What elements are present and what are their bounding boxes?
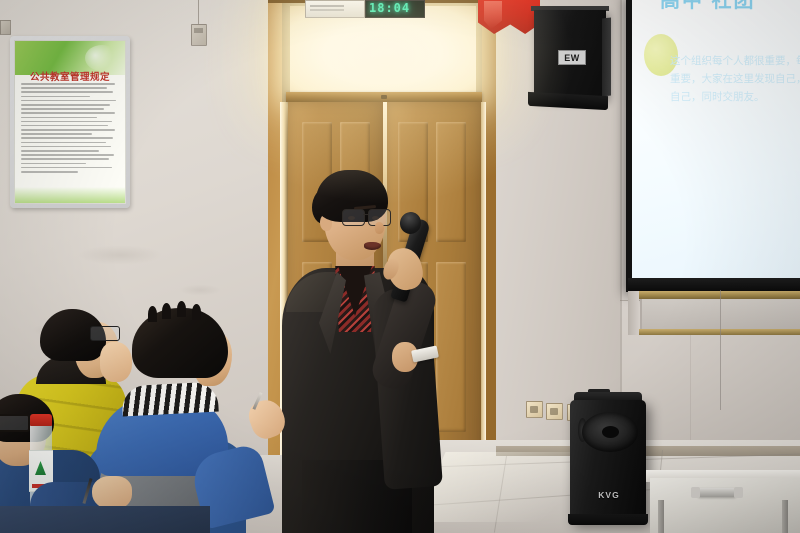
hair-spike [177, 301, 186, 317]
screen-roller-bottom-rail [638, 329, 800, 335]
desk-right-leg [782, 500, 788, 533]
screen-pull-cord[interactable] [720, 290, 721, 410]
student-blue-hoodie-striped-collar [121, 382, 218, 417]
classroom-regulations-poster: 公共教室管理规定 [10, 36, 130, 208]
slide-body-text: 这个组织每个人都很重要，每 重要，大家在这里发现自己， 自己，同时交朋友。 [670, 52, 800, 106]
slide-body-line: 重要，大家在这里发现自己， [670, 70, 800, 88]
floor-speaker-brand-badge: KVG [595, 490, 623, 500]
student-yellow-jacket-glasses [90, 326, 120, 341]
projection-screen-bottom-bar [628, 278, 800, 291]
presenter-nose [375, 222, 384, 234]
student-yellow-jacket-hand-on-cheek [100, 342, 132, 382]
wall-outlet[interactable] [546, 403, 563, 420]
poster-body-text [21, 83, 119, 187]
student-front-left-glasses [0, 414, 30, 432]
desk-right [650, 478, 800, 533]
poster-inner: 公共教室管理规定 [14, 40, 126, 204]
classroom-photo-scene: 公共教室管理规定 [0, 0, 800, 533]
poster-footer-graphic [15, 187, 125, 203]
wall-speaker-side-panel [602, 17, 611, 96]
wall-outlet[interactable] [526, 401, 543, 418]
water-bottle-cap [30, 414, 52, 426]
student-blue-hoodie-hand [245, 395, 290, 442]
front-left-desk-edge [0, 506, 210, 533]
wall-thermostat-box [191, 24, 207, 46]
wall-junction-box-small [0, 20, 11, 35]
hair-spike [192, 304, 201, 320]
door-transom-rail [286, 92, 482, 102]
screen-roller-mount [628, 291, 639, 335]
led-clock-display: 18:04 [365, 0, 425, 18]
seated-students [0, 300, 300, 533]
desk-right-drawer-handle[interactable] [698, 488, 736, 497]
led-clock-digits: 18:04 [369, 2, 410, 15]
projection-screen-surface: 高中 社团 这个组织每个人都很重要，每 重要，大家在这里发现自己， 自己，同时交… [632, 0, 800, 278]
student-blue-hoodie-hair [132, 308, 228, 378]
presenter-mouth [364, 242, 381, 250]
slide-title: 高中 社团 [660, 0, 800, 13]
slide-body-line: 自己，同时交朋友。 [670, 88, 800, 106]
student-front-left-hand [92, 476, 132, 510]
wall-box-wire [198, 0, 199, 24]
presenter-with-microphone [280, 160, 480, 533]
door-notice-sign [305, 0, 365, 18]
wall-speaker-brand-badge: EW [558, 50, 586, 65]
hair-spike [148, 306, 157, 322]
floor-speaker-base [568, 514, 648, 525]
screen-roller-top-rail [638, 291, 800, 299]
glasses-bridge [363, 214, 368, 215]
glasses-lens [342, 209, 365, 226]
desk-right-leg [658, 500, 664, 533]
door-transom-window [290, 6, 476, 92]
slide-body-line: 这个组织每个人都很重要，每 [670, 52, 800, 70]
hair-spike [162, 303, 171, 319]
poster-title: 公共教室管理规定 [15, 69, 125, 83]
floor-speaker-woofer-cone [582, 412, 638, 452]
